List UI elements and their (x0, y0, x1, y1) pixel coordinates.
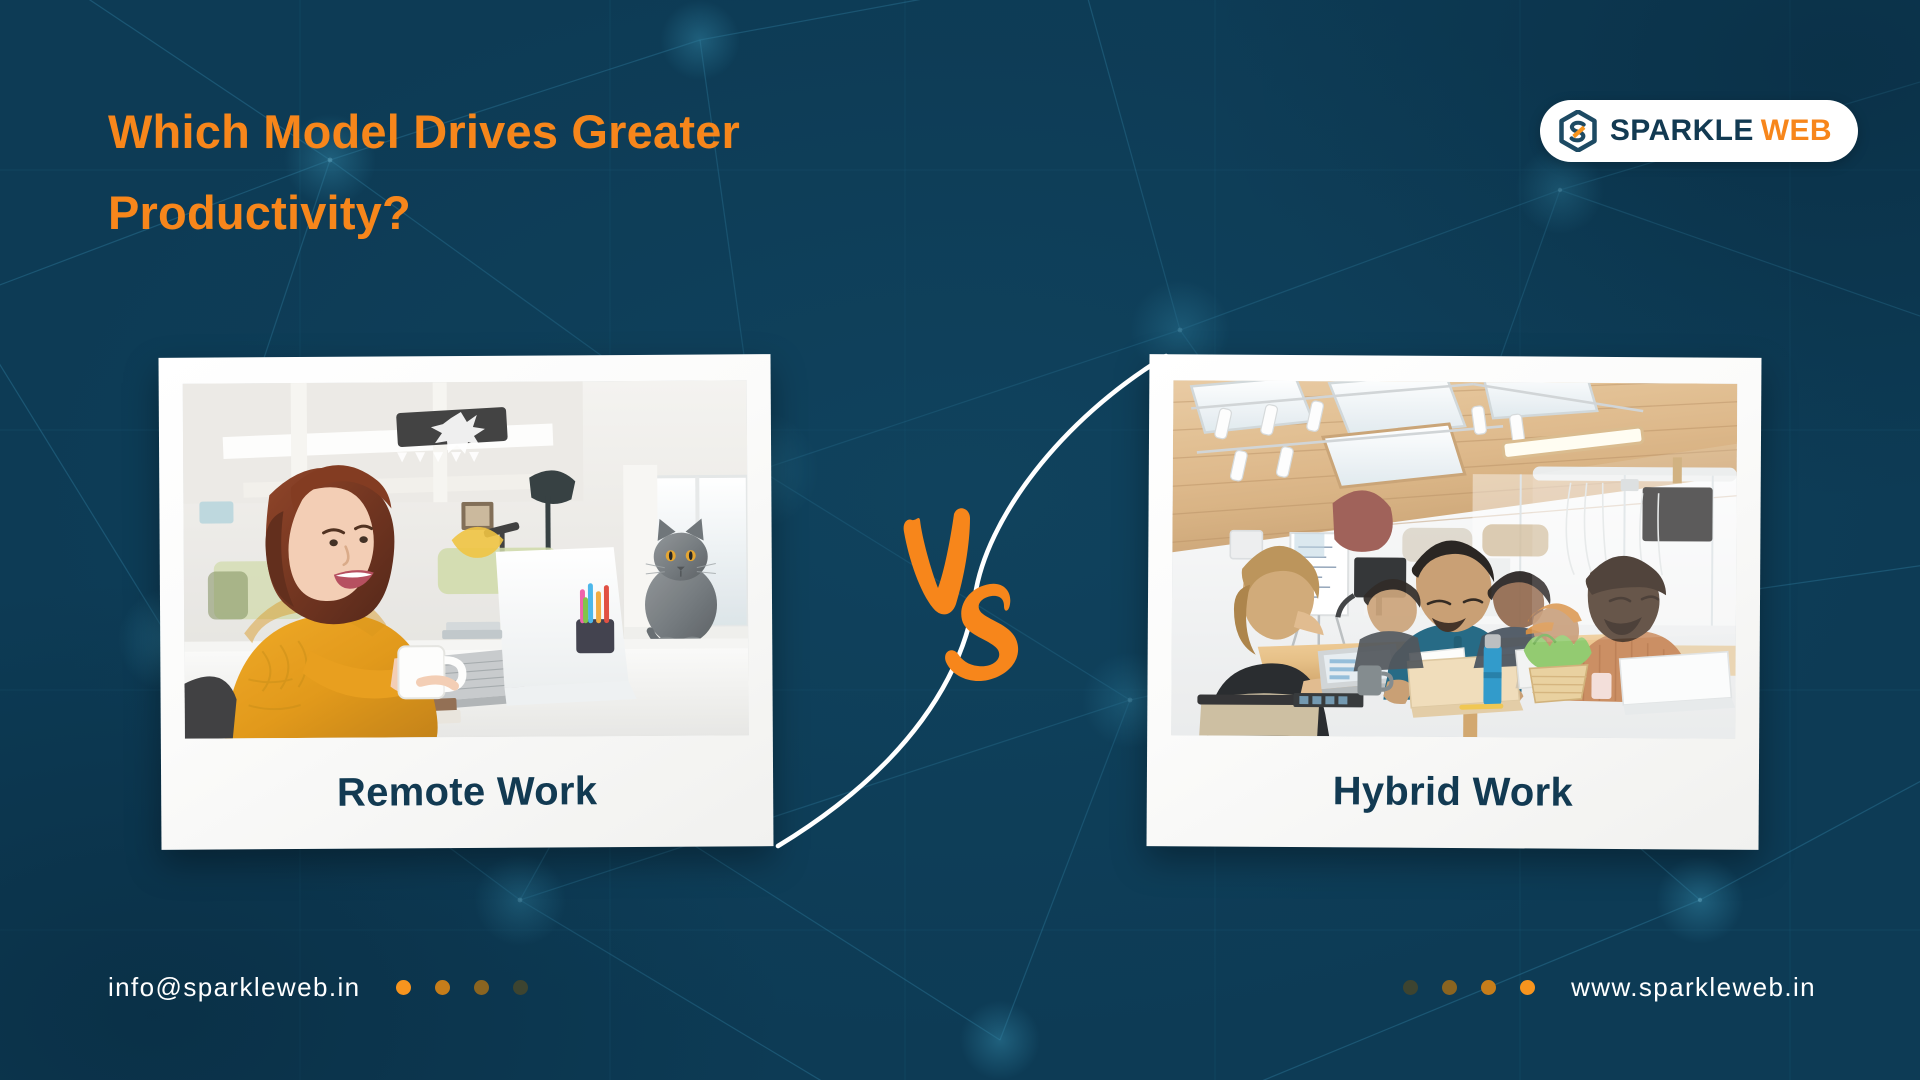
footer-left: info@sparkleweb.in (108, 972, 528, 1003)
card-hybrid-work[interactable]: Hybrid Work (1147, 354, 1762, 850)
footer-dot (396, 980, 411, 995)
footer-dot (1403, 980, 1418, 995)
footer-right: www.sparkleweb.in (1403, 972, 1816, 1003)
versus-label (900, 500, 1040, 690)
page-title: Which Model Drives Greater Productivity? (108, 92, 1008, 254)
footer-dot (1481, 980, 1496, 995)
brand-logo[interactable]: SPARKLE WEB (1540, 100, 1858, 162)
photo-hybrid-work (1171, 380, 1737, 738)
page-title-line-2: Productivity? (108, 173, 1008, 254)
versus-letter-v (904, 508, 970, 614)
card-remote-work[interactable]: Remote Work (159, 354, 774, 850)
footer-dot (1520, 980, 1535, 995)
footer-dots-right (1403, 980, 1535, 995)
sparkleweb-hexagon-s-icon (1558, 110, 1598, 152)
footer-dot (474, 980, 489, 995)
photo-hybrid-work-illustration (1171, 380, 1737, 738)
footer-website[interactable]: www.sparkleweb.in (1571, 972, 1816, 1003)
card-remote-work-caption: Remote Work (185, 735, 750, 849)
photo-remote-work (183, 380, 749, 738)
footer-dot (1442, 980, 1457, 995)
brand-word-web: WEB (1761, 116, 1832, 146)
footer-email[interactable]: info@sparkleweb.in (108, 972, 360, 1003)
footer-dots-left (396, 980, 528, 995)
card-hybrid-work-caption: Hybrid Work (1171, 735, 1736, 849)
photo-remote-work-illustration (183, 380, 749, 738)
footer-dot (513, 980, 528, 995)
brand-word-sparkle: SPARKLE (1610, 116, 1754, 146)
footer-dot (435, 980, 450, 995)
page-title-line-1: Which Model Drives Greater (108, 92, 1008, 173)
brand-wordmark: SPARKLE WEB (1610, 116, 1832, 146)
